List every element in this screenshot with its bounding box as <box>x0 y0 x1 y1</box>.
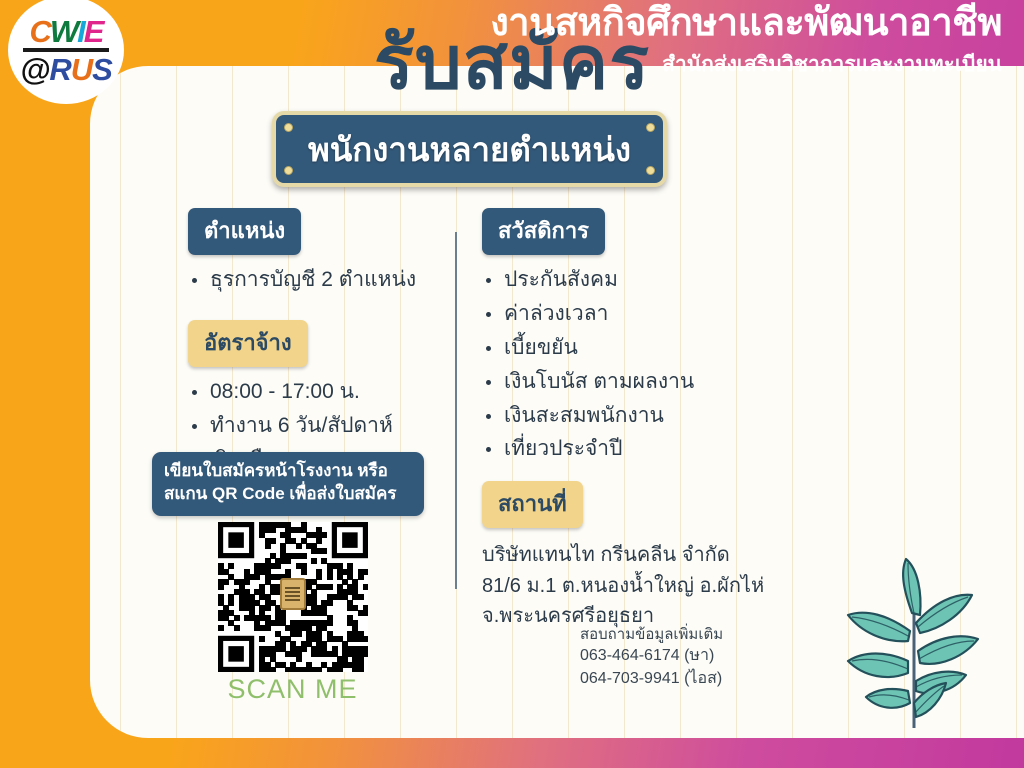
logo-letter-i: I <box>77 14 84 49</box>
contact-phone-1: 063-464-6174 (ษา) <box>580 645 723 668</box>
logo-letter-u: U <box>71 52 92 87</box>
contact-block: สอบถามข้อมูลเพิ่มเติม 063-464-6174 (ษา) … <box>580 624 723 691</box>
list-item: เที่ยวประจำปี <box>482 436 812 463</box>
list-item: ทำงาน 6 วัน/สัปดาห์ <box>188 413 438 440</box>
wage-section: อัตราจ้าง 08:00 - 17:00 น. ทำงาน 6 วัน/ส… <box>188 320 438 474</box>
benefits-badge: สวัสดิการ <box>482 208 605 255</box>
screw-icon-bottom-left <box>284 166 293 175</box>
list-item: เบี้ยขยัน <box>482 335 812 362</box>
apply-instruction-line-2: สแกน QR Code เพื่อส่งใบสมัคร <box>164 483 412 506</box>
logo-letter-e: E <box>84 14 103 49</box>
apply-instruction-box: เขียนใบสมัครหน้าโรงงาน หรือ สแกน QR Code… <box>152 452 424 516</box>
list-item: ธุรการบัญชี 2 ตำแหน่ง <box>188 267 438 294</box>
header-subtitle: สำนักส่งเสริมวิชาการและงานทะเบียน <box>662 48 1002 81</box>
positions-badge: ตำแหน่ง <box>188 208 301 255</box>
screw-icon-top-left <box>284 123 293 132</box>
sign-plaque: พนักงานหลายตำแหน่ง <box>272 111 667 187</box>
positions-list: ธุรการบัญชี 2 ตำแหน่ง <box>188 267 438 294</box>
header-title: งานสหกิจศึกษาและพัฒนาอาชีพ <box>490 4 1002 44</box>
logo-letter-c: C <box>30 14 50 49</box>
logo-letter-s: S <box>92 52 112 87</box>
wage-badge: อัตราจ้าง <box>188 320 308 367</box>
positions-section: ตำแหน่ง ธุรการบัญชี 2 ตำแหน่ง <box>188 208 438 294</box>
clipboard-icon <box>280 578 306 610</box>
header-band: งานสหกิจศึกษาและพัฒนาอาชีพ สำนักส่งเสริม… <box>0 0 1024 80</box>
qr-code-image[interactable] <box>218 522 368 672</box>
list-item: ค่าล่วงเวลา <box>482 301 812 328</box>
cwie-rus-logo: CWIE @RUS <box>8 0 124 104</box>
contact-phone-2: 064-703-9941 (ไอส) <box>580 668 723 691</box>
screw-icon-bottom-right <box>646 166 655 175</box>
list-item: ประกันสังคม <box>482 267 812 294</box>
qr-code-block[interactable]: SCAN ME <box>210 522 375 705</box>
logo-line-cwie: CWIE <box>30 16 103 47</box>
benefits-list: ประกันสังคม ค่าล่วงเวลา เบี้ยขยัน เงินโบ… <box>482 267 812 463</box>
contact-heading: สอบถามข้อมูลเพิ่มเติม <box>580 624 723 645</box>
logo-at-sign: @ <box>20 52 49 87</box>
location-section: สถานที่ บริษัทแทนไท กรีนคลีน จำกัด 81/6 … <box>482 481 812 631</box>
logo-line-rus: @RUS <box>20 54 112 85</box>
address-line: บริษัทแทนไท กรีนคลีน จำกัด <box>482 540 812 570</box>
screw-icon-top-right <box>646 123 655 132</box>
sign-plaque-text: พนักงานหลายตำแหน่ง <box>308 123 631 176</box>
list-item: เงินสะสมพนักงาน <box>482 403 812 430</box>
logo-letter-r: R <box>49 52 70 87</box>
benefits-section: สวัสดิการ ประกันสังคม ค่าล่วงเวลา เบี้ยข… <box>482 208 812 463</box>
location-badge: สถานที่ <box>482 481 583 528</box>
apply-instruction-line-1: เขียนใบสมัครหน้าโรงงาน หรือ <box>164 460 412 483</box>
scan-me-label: SCAN ME <box>210 674 375 705</box>
logo-letter-w: W <box>50 14 77 49</box>
column-divider <box>455 232 457 589</box>
right-column: สวัสดิการ ประกันสังคม ค่าล่วงเวลา เบี้ยข… <box>482 208 812 631</box>
location-address: บริษัทแทนไท กรีนคลีน จำกัด 81/6 ม.1 ต.หน… <box>482 540 812 631</box>
poster-root: งานสหกิจศึกษาและพัฒนาอาชีพ สำนักส่งเสริม… <box>0 0 1024 768</box>
left-column: ตำแหน่ง ธุรการบัญชี 2 ตำแหน่ง อัตราจ้าง … <box>188 208 438 492</box>
address-line: 81/6 ม.1 ต.หนองน้ำใหญ่ อ.ผักไห่ <box>482 571 812 601</box>
list-item: เงินโบนัส ตามผลงาน <box>482 369 812 396</box>
list-item: 08:00 - 17:00 น. <box>188 379 438 406</box>
